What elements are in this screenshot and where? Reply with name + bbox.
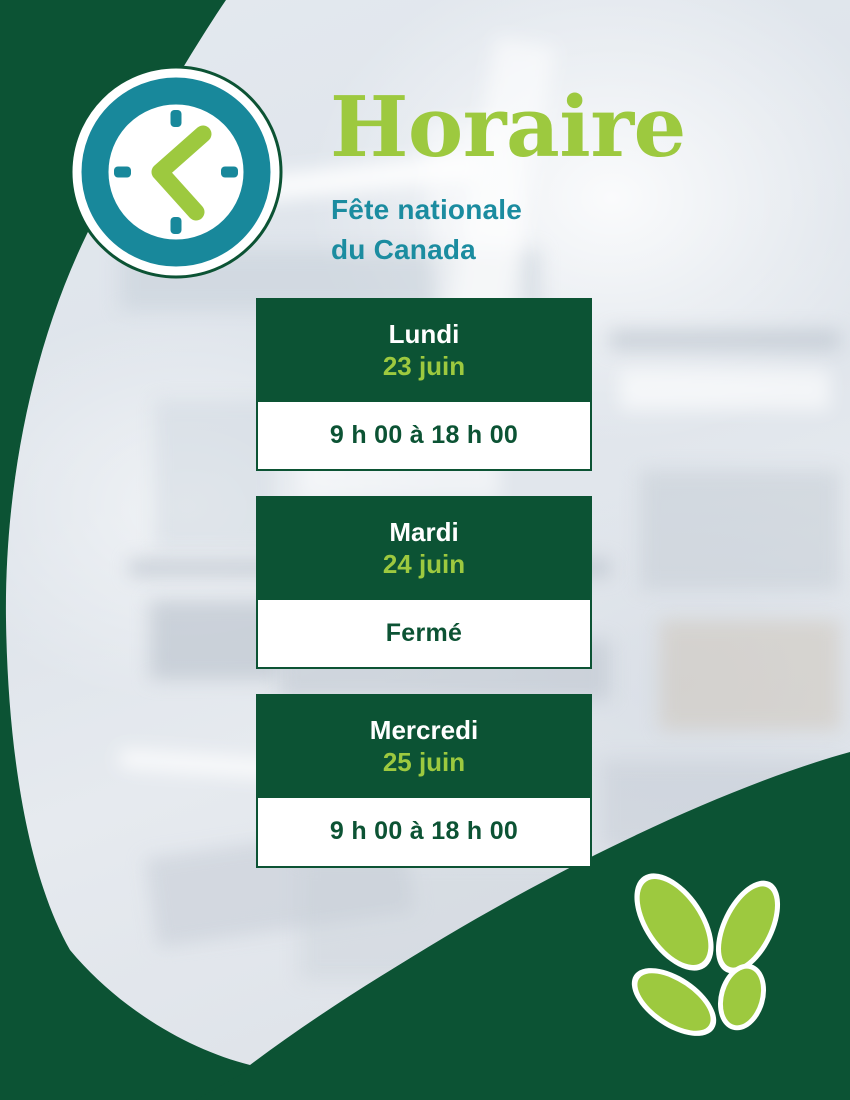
photo-blur-streak — [640, 470, 840, 590]
schedule-day-label: Mardi — [266, 518, 582, 548]
schedule-card: Mercredi 25 juin 9 h 00 à 18 h 00 — [256, 694, 592, 867]
photo-blur-streak — [620, 370, 830, 410]
schedule-card-header: Lundi 23 juin — [256, 298, 592, 402]
photo-blur-streak — [600, 760, 840, 850]
schedule-card: Mardi 24 juin Fermé — [256, 496, 592, 669]
page-subtitle: Fête nationale du Canada — [331, 190, 522, 271]
schedule-card-list: Lundi 23 juin 9 h 00 à 18 h 00 Mardi 24 … — [256, 298, 592, 868]
schedule-hours-label: 9 h 00 à 18 h 00 — [266, 818, 582, 846]
schedule-card-header: Mercredi 25 juin — [256, 694, 592, 798]
photo-blur-streak — [660, 620, 840, 730]
schedule-card-header: Mardi 24 juin — [256, 496, 592, 600]
photo-blur-streak — [610, 330, 840, 350]
subtitle-line-1: Fête nationale — [331, 190, 522, 230]
schedule-hours-label: Fermé — [266, 620, 582, 648]
photo-blur-streak — [300, 860, 600, 980]
schedule-hours-label: 9 h 00 à 18 h 00 — [266, 422, 582, 450]
schedule-date-label: 24 juin — [266, 548, 582, 582]
poster-canvas: Horaire Fête nationale du Canada Lundi 2… — [0, 0, 850, 1100]
schedule-date-label: 23 juin — [266, 350, 582, 384]
clock-icon — [68, 64, 284, 280]
butterfly-logo-icon — [612, 862, 812, 1062]
schedule-card: Lundi 23 juin 9 h 00 à 18 h 00 — [256, 298, 592, 471]
schedule-card-body: Fermé — [256, 600, 592, 670]
page-title: Horaire — [330, 86, 686, 169]
schedule-card-body: 9 h 00 à 18 h 00 — [256, 798, 592, 868]
schedule-day-label: Mercredi — [266, 716, 582, 746]
schedule-day-label: Lundi — [266, 320, 582, 350]
schedule-date-label: 25 juin — [266, 746, 582, 780]
subtitle-line-2: du Canada — [331, 230, 522, 270]
schedule-card-body: 9 h 00 à 18 h 00 — [256, 402, 592, 472]
